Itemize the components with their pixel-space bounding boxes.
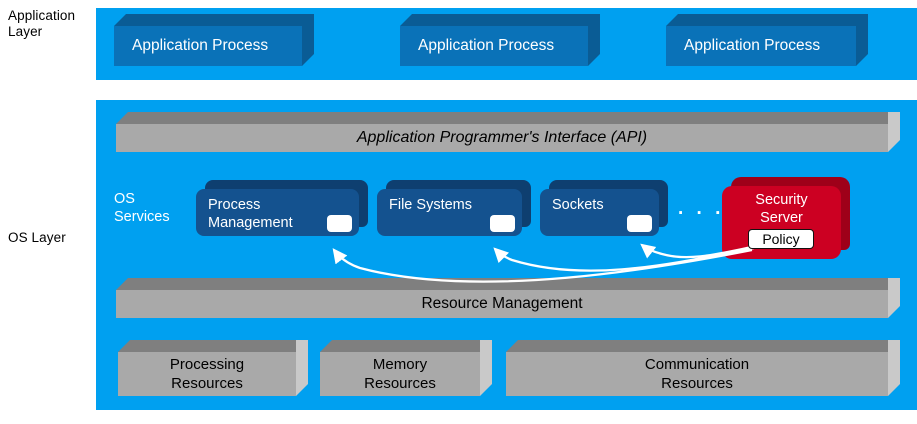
box-top-bevel [116, 278, 888, 290]
box-top-bevel [666, 14, 856, 26]
api-bar-label: Application Programmer's Interface (API) [116, 129, 888, 147]
service-box-sockets[interactable]: Sockets [540, 180, 668, 236]
resource-box-processing[interactable]: Processing Resources [118, 340, 308, 396]
box-side-bevel [888, 278, 900, 318]
service-label: File Systems [389, 196, 472, 214]
box-face: Application Process [400, 26, 588, 66]
box-face: Processing Resources [118, 352, 296, 396]
application-process-label: Application Process [666, 37, 856, 55]
architecture-diagram: Application Layer OS Layer Application P… [0, 0, 917, 424]
box-side-bevel [588, 14, 600, 66]
box-top-bevel [114, 14, 302, 26]
resource-box-memory[interactable]: Memory Resources [320, 340, 492, 396]
application-process-box-1[interactable]: Application Process [114, 14, 314, 66]
box-face: Communication Resources [506, 352, 888, 396]
box-top-bevel [118, 340, 296, 352]
box-top-bevel [320, 340, 480, 352]
application-process-box-2[interactable]: Application Process [400, 14, 600, 66]
security-hook-icon[interactable] [490, 215, 515, 232]
box-side-bevel [480, 340, 492, 396]
service-box-security-server[interactable]: Security Server Policy [722, 177, 850, 259]
resource-management-bar[interactable]: Resource Management [116, 278, 900, 318]
service-box-file-systems[interactable]: File Systems [377, 180, 531, 236]
api-bar[interactable]: Application Programmer's Interface (API) [116, 112, 900, 152]
box-side-bevel [888, 112, 900, 152]
box-top-bevel [400, 14, 588, 26]
security-hook-icon[interactable] [627, 215, 652, 232]
service-box-process-management[interactable]: Process Management [196, 180, 368, 236]
application-layer-caption: Application Layer [8, 8, 75, 40]
box-top-bevel [116, 112, 888, 124]
resource-label: Processing Resources [118, 355, 296, 393]
ellipsis-more-services: . . . [678, 198, 724, 220]
application-process-label: Application Process [400, 37, 588, 55]
security-hook-icon[interactable] [327, 215, 352, 232]
application-process-label: Application Process [114, 37, 302, 55]
service-label: Process Management [208, 196, 293, 232]
application-process-box-3[interactable]: Application Process [666, 14, 868, 66]
box-side-bevel [296, 340, 308, 396]
service-label: Sockets [552, 196, 604, 214]
resource-label: Memory Resources [320, 355, 480, 393]
security-server-label: Security Server [722, 191, 841, 227]
os-services-caption: OS Services [114, 190, 170, 226]
policy-chip[interactable]: Policy [748, 229, 814, 249]
box-face: Application Process [114, 26, 302, 66]
box-face: Resource Management [116, 290, 888, 318]
box-side-bevel [856, 14, 868, 66]
resource-box-communication[interactable]: Communication Resources [506, 340, 900, 396]
resource-label: Communication Resources [506, 355, 888, 393]
box-face: Application Programmer's Interface (API) [116, 124, 888, 152]
resource-management-label: Resource Management [116, 295, 888, 313]
os-layer-caption: OS Layer [8, 230, 66, 246]
box-top-bevel [506, 340, 888, 352]
box-face: Application Process [666, 26, 856, 66]
box-side-bevel [888, 340, 900, 396]
box-face: Memory Resources [320, 352, 480, 396]
box-side-bevel [302, 14, 314, 66]
